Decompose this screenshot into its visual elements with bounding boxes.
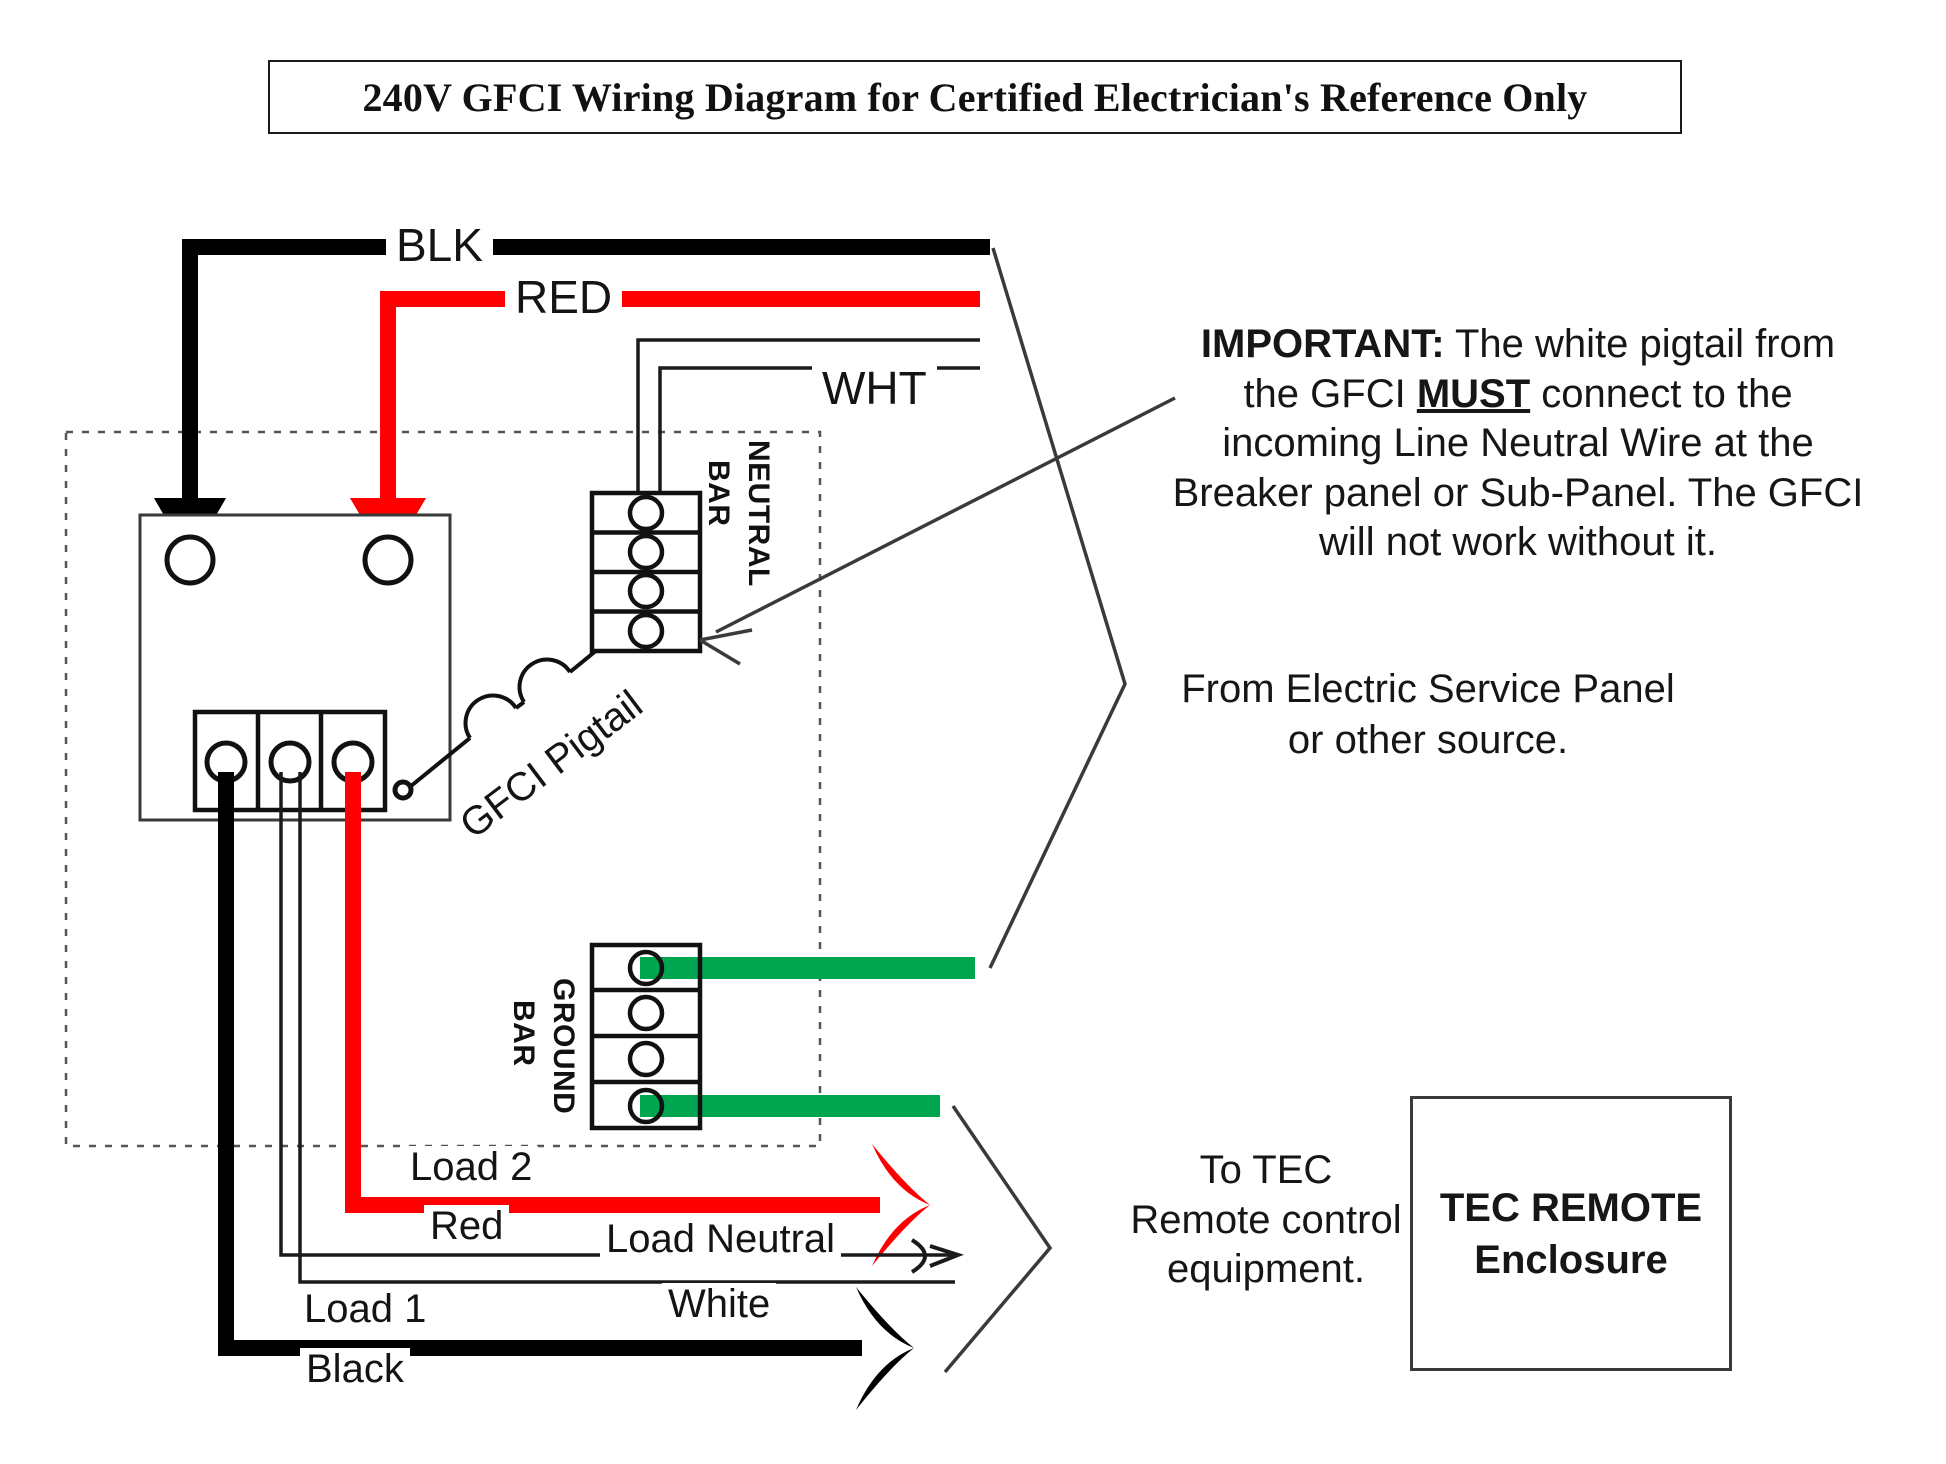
tec-note-line2: Remote control: [1076, 1196, 1456, 1246]
ground-slot-3: [630, 1043, 662, 1075]
source-note-line2: or other source.: [1148, 715, 1708, 766]
tec-note-line3: equipment.: [1076, 1245, 1456, 1295]
tec-note-line1: To TEC: [1076, 1146, 1456, 1196]
leader-to-tec-bracket: [945, 1106, 1050, 1372]
label-wht: WHT: [812, 365, 937, 411]
label-blk: BLK: [386, 222, 493, 268]
label-load1-name: Load 1: [298, 1288, 432, 1330]
label-load2-color: Red: [424, 1205, 509, 1247]
ground-bar-label-line1: GROUND: [546, 978, 580, 1114]
label-load-neutral-name: Load Neutral: [600, 1218, 841, 1260]
tec-box-line2: Enclosure: [1474, 1234, 1667, 1286]
tec-box-line1: TEC REMOTE: [1440, 1182, 1702, 1234]
source-note-line1: From Electric Service Panel: [1148, 664, 1708, 715]
important-prefix: IMPORTANT:: [1201, 322, 1445, 366]
tec-remote-enclosure-box: TEC REMOTE Enclosure: [1410, 1096, 1732, 1371]
source-panel-note: From Electric Service Panel or other sou…: [1148, 664, 1708, 766]
label-load-neutral-color: White: [662, 1283, 776, 1325]
wiring-diagram-page: 240V GFCI Wiring Diagram for Certified E…: [0, 0, 1946, 1464]
neutral-bar: [592, 493, 700, 651]
page-title: 240V GFCI Wiring Diagram for Certified E…: [362, 74, 1587, 121]
ground-slot-2: [630, 997, 662, 1029]
neutral-bar-label-line2: BAR: [701, 460, 735, 527]
label-red: RED: [505, 274, 622, 320]
neutral-bar-label-line1: NEUTRAL: [741, 440, 775, 587]
label-load1-color: Black: [300, 1348, 410, 1390]
leader-source-panel: [990, 248, 1125, 968]
load2-red-wire: [353, 772, 930, 1266]
label-load2-name: Load 2: [404, 1146, 538, 1188]
important-note: IMPORTANT: The white pigtail from the GF…: [1168, 320, 1868, 568]
ground-bar: [592, 945, 975, 1128]
to-tec-note: To TEC Remote control equipment.: [1076, 1146, 1456, 1295]
important-must: MUST: [1417, 372, 1530, 416]
diagram-title-box: 240V GFCI Wiring Diagram for Certified E…: [268, 60, 1682, 134]
gfci-breaker-body: [140, 515, 450, 820]
ground-bar-label-line2: BAR: [506, 1000, 540, 1067]
